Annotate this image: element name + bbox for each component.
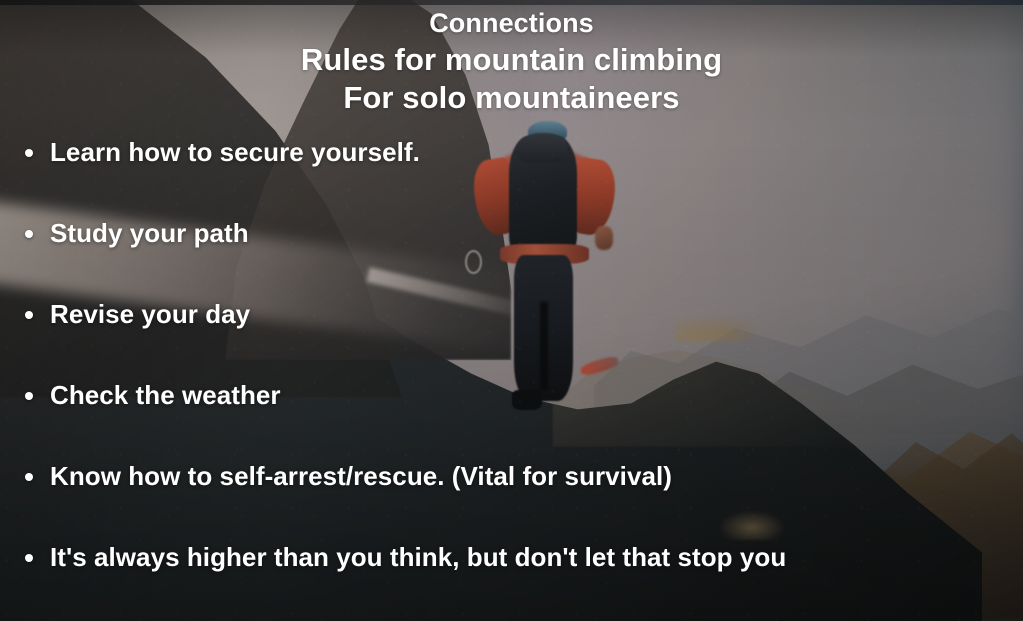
list-item: It's always higher than you think, but d… — [0, 536, 1023, 617]
bullet-dot-icon — [25, 311, 33, 319]
presentation-slide: Connections Rules for mountain climbing … — [0, 0, 1023, 621]
list-item: Learn how to secure yourself. — [0, 131, 1023, 212]
bullet-text: Study your path — [50, 212, 249, 254]
slide-title-block: Connections Rules for mountain climbing … — [0, 6, 1023, 117]
list-item: Know how to self-arrest/rescue. (Vital f… — [0, 455, 1023, 536]
slide-title: Connections — [0, 6, 1023, 40]
bullet-text: Check the weather — [50, 374, 281, 416]
bullet-dot-icon — [25, 392, 33, 400]
bullet-text: Know how to self-arrest/rescue. (Vital f… — [50, 455, 672, 497]
slide-content: Connections Rules for mountain climbing … — [0, 0, 1023, 621]
slide-subtitle-secondary: For solo mountaineers — [0, 79, 1023, 117]
list-item: Revise your day — [0, 293, 1023, 374]
bullet-dot-icon — [25, 230, 33, 238]
bullet-dot-icon — [25, 554, 33, 562]
bullet-text: Revise your day — [50, 293, 250, 335]
list-item: Study your path — [0, 212, 1023, 293]
slide-subtitle-primary: Rules for mountain climbing — [0, 41, 1023, 79]
bullet-text: Learn how to secure yourself. — [50, 131, 420, 173]
bullet-dot-icon — [25, 149, 33, 157]
bullet-list: Learn how to secure yourself. Study your… — [0, 131, 1023, 617]
list-item: Check the weather — [0, 374, 1023, 455]
bullet-dot-icon — [25, 473, 33, 481]
bullet-text: It's always higher than you think, but d… — [50, 536, 786, 578]
